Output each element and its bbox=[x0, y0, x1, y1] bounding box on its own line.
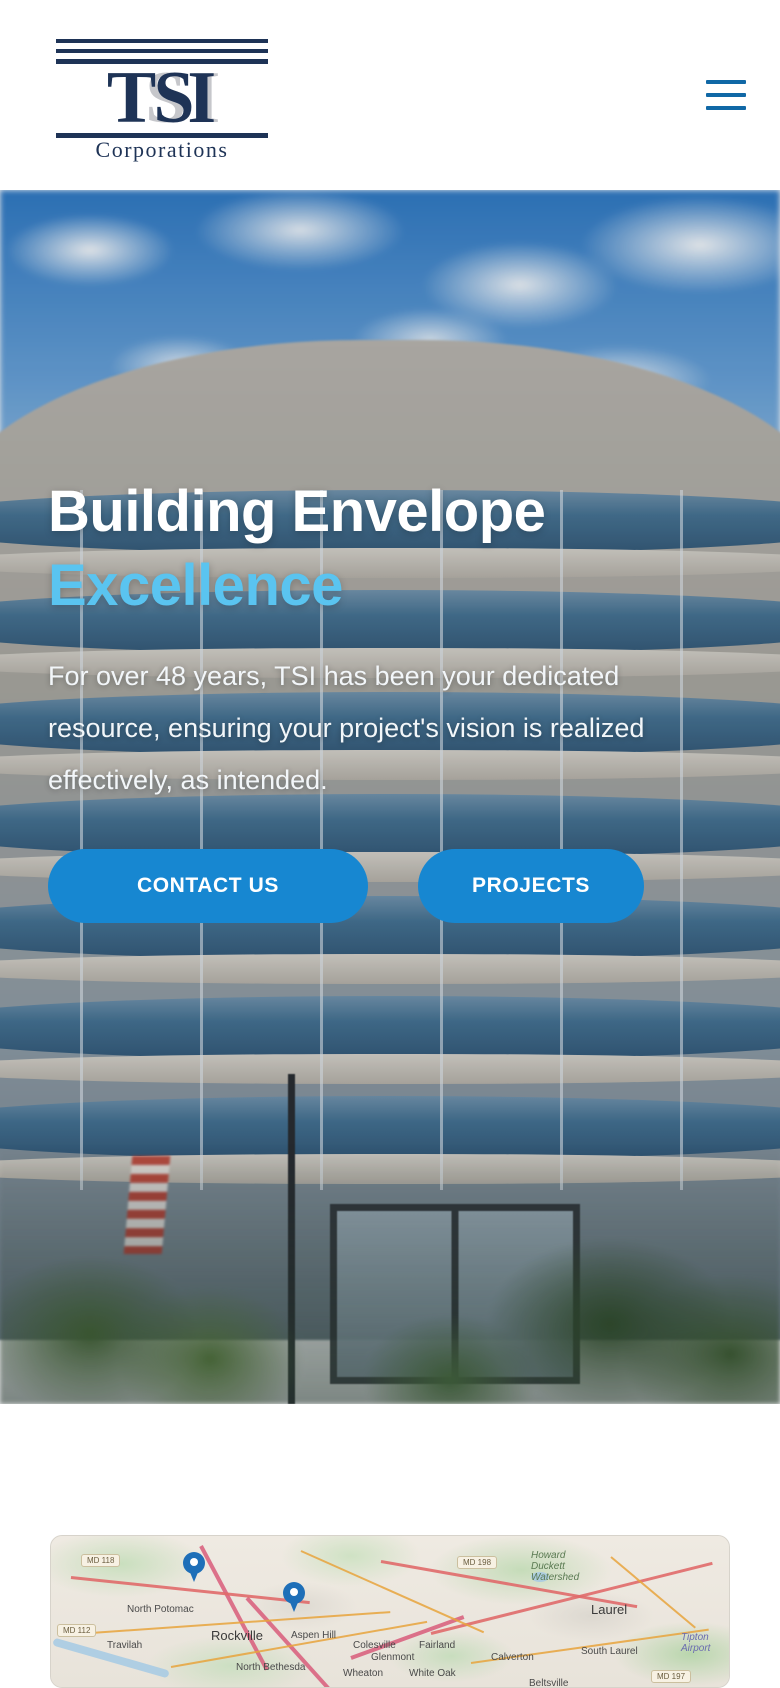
hero-paragraph: For over 48 years, TSI has been your ded… bbox=[48, 651, 668, 806]
map-place-tipton-airport: Tipton Airport bbox=[681, 1632, 730, 1654]
hero-heading-line-1: Building Envelope bbox=[48, 479, 545, 544]
map-marker-2-tip bbox=[287, 1595, 301, 1612]
map-place-fairland: Fairland bbox=[419, 1640, 455, 1651]
hero-content: Building Envelope Excellence For over 48… bbox=[48, 475, 708, 923]
map-place-north-bethesda: North Bethesda bbox=[236, 1662, 306, 1673]
map-marker-2-dot bbox=[290, 1588, 298, 1596]
map-section: MD 118 MD 112 MD 198 MD 197 North Potoma… bbox=[0, 1404, 780, 1688]
map-place-beltsville: Beltsville bbox=[529, 1678, 568, 1688]
hero-section: Building Envelope Excellence For over 48… bbox=[0, 190, 780, 1404]
map-place-north-potomac: North Potomac bbox=[127, 1604, 194, 1615]
map-place-glenmont: Glenmont bbox=[371, 1652, 414, 1663]
hamburger-bar-1 bbox=[706, 80, 746, 84]
locations-map[interactable]: MD 118 MD 112 MD 198 MD 197 North Potoma… bbox=[50, 1535, 730, 1688]
hero-cta-group: CONTACT US PROJECTS bbox=[48, 849, 708, 923]
map-shield-md197: MD 197 bbox=[651, 1670, 691, 1683]
map-place-wheaton: Wheaton bbox=[343, 1668, 383, 1679]
map-place-rockville: Rockville bbox=[211, 1628, 263, 1643]
map-marker-1-tip bbox=[187, 1565, 201, 1582]
map-place-white-oak: White Oak bbox=[409, 1668, 456, 1679]
logo-letters: T S S I I bbox=[48, 63, 276, 133]
logo-wordmark: Corporations bbox=[48, 137, 276, 163]
contact-us-button[interactable]: CONTACT US bbox=[48, 849, 368, 923]
map-shield-md112: MD 112 bbox=[57, 1624, 96, 1637]
map-shield-md198: MD 198 bbox=[457, 1556, 497, 1569]
tsi-logo[interactable]: T S S I I Corporations bbox=[48, 33, 276, 157]
map-marker-1-dot bbox=[190, 1558, 198, 1566]
projects-button[interactable]: PROJECTS bbox=[418, 849, 644, 923]
site-header: T S S I I Corporations bbox=[0, 0, 780, 190]
map-marker-1[interactable] bbox=[183, 1552, 205, 1582]
logo-letter-t: T bbox=[107, 63, 157, 133]
map-place-watershed: Howard Duckett Watershed bbox=[531, 1550, 601, 1583]
hamburger-bar-3 bbox=[706, 106, 746, 110]
map-place-aspen-hill: Aspen Hill bbox=[291, 1630, 336, 1641]
hamburger-menu-icon[interactable] bbox=[702, 73, 750, 117]
hero-heading-accent: Excellence bbox=[48, 549, 708, 623]
map-place-colesville: Colesville bbox=[353, 1640, 396, 1651]
hero-heading: Building Envelope Excellence bbox=[48, 475, 708, 623]
map-place-travilah: Travilah bbox=[107, 1640, 142, 1651]
logo-letter-i: I bbox=[187, 63, 217, 133]
map-place-laurel: Laurel bbox=[591, 1602, 627, 1617]
map-place-south-laurel: South Laurel bbox=[581, 1646, 638, 1657]
map-place-calverton: Calverton bbox=[491, 1652, 534, 1663]
map-marker-2[interactable] bbox=[283, 1582, 305, 1612]
map-shield-md118: MD 118 bbox=[81, 1554, 120, 1567]
logo-rule-top-2 bbox=[56, 49, 268, 53]
logo-rule-top-1 bbox=[56, 39, 268, 43]
hamburger-bar-2 bbox=[706, 93, 746, 97]
